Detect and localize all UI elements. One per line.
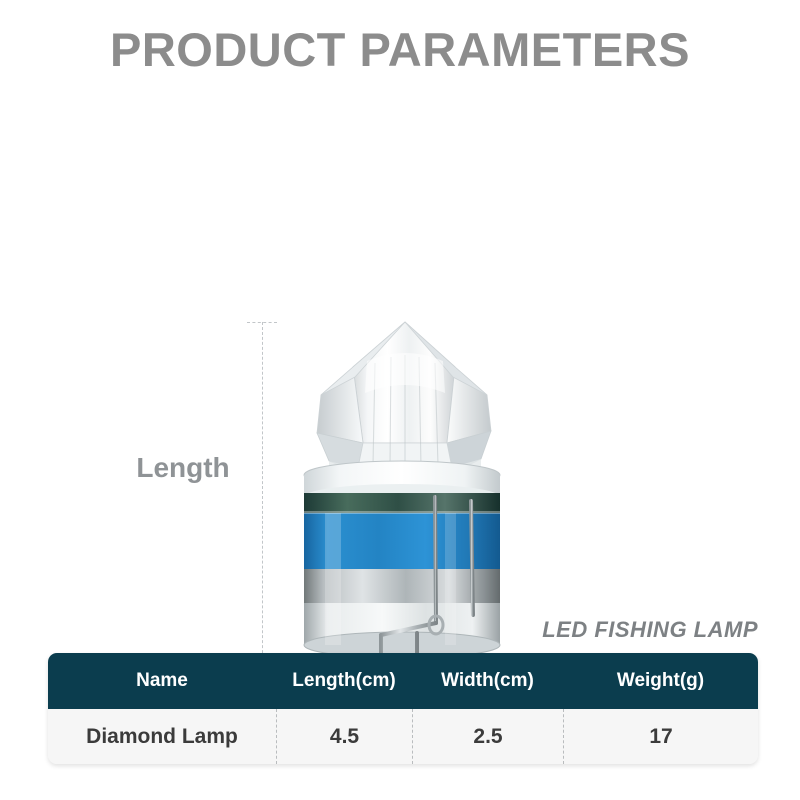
cell-length: 4.5 [276, 709, 412, 764]
brand-caption: LED FISHING LAMP [542, 617, 758, 643]
column-header-width: Width(cm) [412, 653, 563, 709]
cell-weight: 17 [563, 709, 758, 764]
page-title: PRODUCT PARAMETERS [0, 26, 800, 73]
column-header-weight: Weight(g) [563, 653, 758, 709]
spec-table: Name Length(cm) Width(cm) Weight(g) Diam… [48, 653, 758, 764]
crystal-diamond-head [317, 322, 491, 480]
table-row: Diamond Lamp 4.5 2.5 17 [48, 709, 758, 764]
cell-width: 2.5 [412, 709, 563, 764]
cell-product-name: Diamond Lamp [48, 709, 276, 764]
column-header-length: Length(cm) [276, 653, 412, 709]
column-header-name: Name [48, 653, 276, 709]
length-dimension-label: Length [118, 454, 248, 482]
product-image [295, 315, 510, 675]
length-dimension-line [262, 322, 263, 668]
product-diagram: Length Width [0, 110, 800, 630]
table-header-row: Name Length(cm) Width(cm) Weight(g) [48, 653, 758, 709]
length-dimension-cap-top [247, 322, 277, 323]
